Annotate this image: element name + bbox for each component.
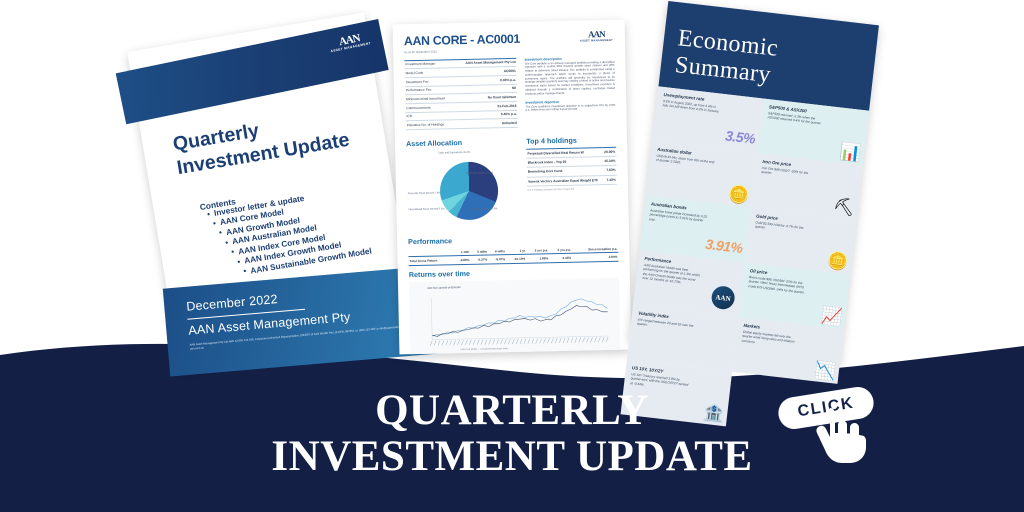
economic-summary-document[interactable]: Economic Summary Data Source: as Oct 202… — [629, 1, 879, 365]
chart-x-tick — [496, 339, 498, 344]
economic-card: MarketsGlobal equity markets fell over t… — [732, 317, 844, 384]
chart-x-tick — [575, 338, 577, 343]
chart-x-tick — [551, 338, 553, 343]
aan-logo: AAN ASSET MANAGEMENT — [328, 32, 371, 53]
chart-x-tick — [493, 339, 495, 344]
economic-card-icon: 📉 — [814, 361, 837, 380]
contents-list: Investor letter & updateAAN Core ModelAA… — [207, 178, 416, 283]
chart-axes — [431, 294, 608, 340]
chart-x-tick — [586, 337, 588, 342]
detail-label: Indicative No. of Holdings — [406, 120, 456, 130]
holding-name: Vaneck Vectors Australian Equal Weight E… — [527, 175, 603, 186]
chart-x-tick — [481, 340, 483, 345]
chart-x-tick — [555, 338, 557, 343]
performance-cell: -3.89% — [453, 256, 471, 265]
performance-heading: Performance — [408, 233, 618, 246]
chart-x-tick — [512, 339, 514, 344]
pointing-hand-cursor-icon — [812, 406, 868, 464]
performance-table: 1 mth3 mths6 mths1 yr3 yrs p.a.5 yrs p.a… — [408, 245, 618, 266]
performance-cell: 1.88% — [526, 254, 549, 263]
asset-allocation-pie-chart: Domestic Shares 31.5% International Shar… — [406, 149, 520, 233]
chart-x-tick — [485, 340, 487, 345]
chart-x-tick — [539, 338, 541, 343]
chart-x-tick — [457, 340, 459, 345]
performance-cell: 4.90% — [572, 252, 619, 262]
cover-document[interactable]: AAN ASSET MANAGEMENT Quarterly Investmen… — [127, 12, 417, 367]
holdings-note: Top 4 holdings represent 50.3% of total … — [527, 187, 617, 192]
table-row: Indicative No. of HoldingsUnlimited — [406, 119, 518, 130]
factsheet-document[interactable]: AAN ASSET MANAGEMENT AAN CORE - AC0001 A… — [393, 20, 632, 355]
chart-x-tick — [559, 338, 561, 343]
performance-cell: -9.07% — [488, 255, 506, 264]
cover-date: December 2022 — [186, 292, 278, 314]
pie-label-3: Domestic Fixed Interest 7.5% — [407, 191, 441, 195]
economic-summary-title: Economic Summary — [674, 25, 869, 99]
detail-value: Unlimited — [455, 119, 518, 129]
chart-x-tick — [446, 340, 448, 345]
holding-weight: 15.34% — [602, 156, 616, 165]
chart-x-tick — [547, 338, 549, 343]
chart-x-tick — [477, 340, 479, 345]
economic-card-icon: 📊 — [839, 143, 862, 162]
chart-x-tick — [590, 337, 592, 342]
objective-body: The Core portfolio's investment objectiv… — [526, 103, 616, 112]
chart-x-tick — [438, 341, 440, 346]
chart-x-tick — [489, 339, 491, 344]
promo-banner: AAN ASSET MANAGEMENT Quarterly Investmen… — [0, 0, 1024, 512]
chart-x-tick — [606, 337, 608, 342]
chart-x-tick — [594, 337, 596, 342]
performance-cell: 3.44% — [549, 253, 572, 262]
economic-card-icon: 📈 — [820, 307, 843, 326]
economic-card-icon: ⛏ — [832, 197, 855, 216]
fund-details-table: Investment ManagerAAN Asset Management P… — [404, 57, 518, 130]
chart-x-tick — [434, 341, 436, 346]
performance-cell: -10.10% — [506, 254, 526, 263]
chart-x-tick — [520, 339, 522, 344]
holding-weight: 20.00% — [602, 147, 616, 156]
pie-label-2: International Fixed Interest 5.1% — [406, 207, 446, 211]
description-body: The Core portfolio is an actively manage… — [525, 60, 615, 96]
pie-label-4: Cash and Equivalents 30.0% — [435, 151, 473, 155]
chart-series-line — [432, 305, 609, 337]
headline-line-2: INVESTMENT UPDATE — [0, 434, 1024, 480]
cover-title: Quarterly Investment Update — [171, 102, 366, 180]
chart-x-tick — [508, 339, 510, 344]
economic-card-icon: 🪙 — [727, 185, 750, 204]
chart-x-tick — [583, 337, 585, 342]
chart-x-tick — [469, 340, 471, 345]
allocation-heading: Asset Allocation — [406, 137, 518, 148]
cover-title-line: Quarterly Investment Update — [171, 102, 366, 180]
chart-x-tick — [571, 338, 573, 343]
chart-x-tick — [461, 340, 463, 345]
chart-x-tick — [598, 337, 600, 342]
factsheet-logo: AAN ASSET MANAGEMENT — [580, 31, 613, 42]
chart-x-tick — [563, 338, 565, 343]
chart-x-tick — [528, 339, 530, 344]
cover-bottom-band: December 2022 AAN Asset Management Pty A… — [163, 266, 438, 377]
returns-line-chart: AAN Core growth of $100,000 AAN Core Mod… — [409, 278, 620, 354]
economic-card-grid: Unemployment rate3.5% in August 2022, up… — [621, 86, 870, 438]
chart-x-tick — [430, 341, 432, 346]
chart-x-tick — [453, 340, 455, 345]
chart-x-tick — [504, 339, 506, 344]
economic-card-figure: 3.91% — [705, 236, 744, 256]
chart-x-tick — [516, 339, 518, 344]
pie-shape — [439, 161, 498, 220]
chart-x-tick — [602, 337, 604, 342]
returns-heading: Returns over time — [409, 266, 619, 279]
chart-x-tick — [473, 340, 475, 345]
chart-x-tick — [442, 340, 444, 345]
performance-cell: -0.27% — [470, 255, 488, 264]
holding-weight: 7.63% — [603, 166, 617, 175]
holding-weight: 7.40% — [603, 175, 617, 184]
pie-label-1: International Shares 25.9% — [465, 207, 499, 211]
performance-cell: Total Gross Return — [408, 256, 453, 266]
chart-x-tick — [543, 338, 545, 343]
economic-card-figure: 3.5% — [724, 127, 756, 146]
chart-x-tick — [532, 339, 534, 344]
top-holdings-table: Perpetual Diversified Real Return W20.00… — [526, 147, 617, 187]
economic-card-icon: 🪙 — [826, 252, 849, 271]
chart-x-tick — [500, 339, 502, 344]
holdings-heading: Top 4 holdings — [526, 135, 616, 146]
chart-x-tick — [567, 338, 569, 343]
chart-x-tick — [450, 340, 452, 345]
chart-x-tick — [524, 339, 526, 344]
table-row: Vaneck Vectors Australian Equal Weight E… — [527, 175, 617, 186]
aan-logo-icon: AAN — [710, 285, 735, 310]
chart-series-line — [431, 298, 608, 336]
chart-x-tick — [579, 338, 581, 343]
chart-x-tick — [465, 340, 467, 345]
chart-x-tick — [536, 338, 538, 343]
